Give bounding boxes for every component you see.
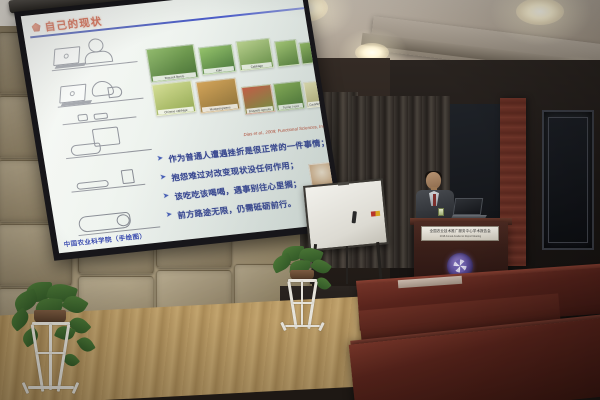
presenter-tie [433, 194, 437, 206]
door-inner-panel [548, 117, 588, 243]
person-body-drawing [83, 50, 113, 65]
vegetable-photo: Mustard greens [196, 78, 241, 114]
potted-plant-left [8, 282, 112, 400]
vegetable-photo: Cauliflower [303, 80, 327, 108]
cartoon-panel-4 [69, 169, 159, 208]
door-panel[interactable] [542, 110, 594, 250]
cartoon-panel-3 [60, 113, 153, 168]
small-object-drawing [77, 114, 88, 122]
vegetable-caption: Chinese cabbage [158, 106, 194, 114]
slide-source-credit: Dias et al., 2009; Functional Sciences, … [243, 123, 326, 137]
person-arm-drawing [107, 86, 123, 98]
podium-banner-line2: 2018 Annual Academic Report Meeting [439, 235, 480, 238]
vegetable-caption: Cauliflower [308, 100, 326, 106]
vegetable-caption: Kale [204, 66, 235, 74]
vegetable-photo: Kale [198, 44, 236, 75]
podium-banner-line1: 全国农业技术推广服务中心学术报告会 [429, 229, 490, 234]
podium-banner: 全国农业技术推广服务中心学术报告会 2018 Annual Academic R… [421, 226, 499, 241]
laptop-drawing-icon [121, 169, 135, 184]
vegetable-caption: Mustard greens [202, 104, 238, 112]
presenter-badge [438, 208, 444, 216]
vegetable-caption: Cabbage [241, 62, 272, 70]
diamond-bullet-icon [31, 22, 41, 32]
vegetable-caption: Brussels sprouts [246, 106, 273, 113]
podium-laptop[interactable] [452, 198, 486, 220]
projection-screen[interactable]: 自己的现状 [14, 0, 355, 271]
presentation-slide: 自己的现状 [21, 0, 339, 253]
screen-frame: 自己的现状 [14, 0, 345, 261]
cartoon-panel-2 [54, 74, 145, 115]
vegetable-photo: Cabbage [236, 38, 275, 71]
cartoon-panel-1 [47, 34, 138, 77]
emblem-cross-icon [459, 262, 461, 271]
marker-icon[interactable] [352, 211, 357, 223]
vegetable-caption: Turnip / root [278, 103, 303, 110]
vegetable-photo-grid: Broccoli florets Kale Cabbage Chinese ca… [146, 31, 328, 140]
whiteboard-color-tab [371, 211, 380, 217]
vegetable-photo [299, 41, 318, 64]
whiteboard-clip-icon [338, 182, 349, 186]
vegetable-photo: Turnip / root [273, 81, 305, 112]
conference-room-photo: 自己的现状 [0, 0, 600, 400]
vegetable-photo [274, 39, 300, 67]
vegetable-photo: Brussels sprouts [241, 84, 275, 115]
vegetable-photo: Broccoli florets [146, 44, 199, 83]
whiteboard[interactable] [303, 178, 389, 251]
emblem-cross-icon [456, 265, 465, 267]
vegetable-photo: Chinese cabbage [151, 80, 196, 116]
easel-leg [376, 242, 382, 284]
easel-leg [346, 246, 348, 284]
laptop-screen [453, 198, 483, 215]
potted-plant-center [272, 246, 332, 332]
